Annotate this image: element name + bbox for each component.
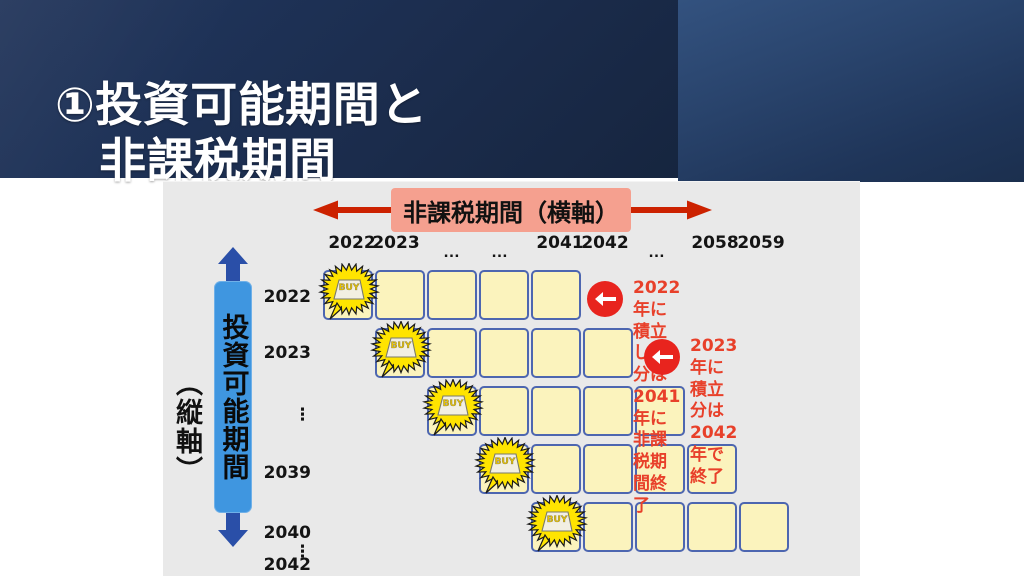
header-background-right — [678, 0, 1024, 182]
callout-text: 2022年に積立した分は 2041年に非課税期間終了 — [633, 278, 680, 517]
diagram-panel: 非課税期間（横軸） 20222023……20412042…20582059 （縦… — [163, 181, 860, 576]
page-title-line1: ①投資可能期間と — [55, 78, 428, 131]
callouts-layer: 2022年に積立した分は 2041年に非課税期間終了2023年に積立分は 204… — [163, 181, 860, 576]
slide-canvas: ①投資可能期間と 非課税期間 非課税期間（横軸） 20222023……20412… — [0, 0, 1024, 576]
arrow-left-icon — [644, 339, 680, 375]
arrow-left-icon — [587, 281, 623, 317]
callout-text: 2023年に積立分は 2042年で終了 — [690, 336, 737, 488]
